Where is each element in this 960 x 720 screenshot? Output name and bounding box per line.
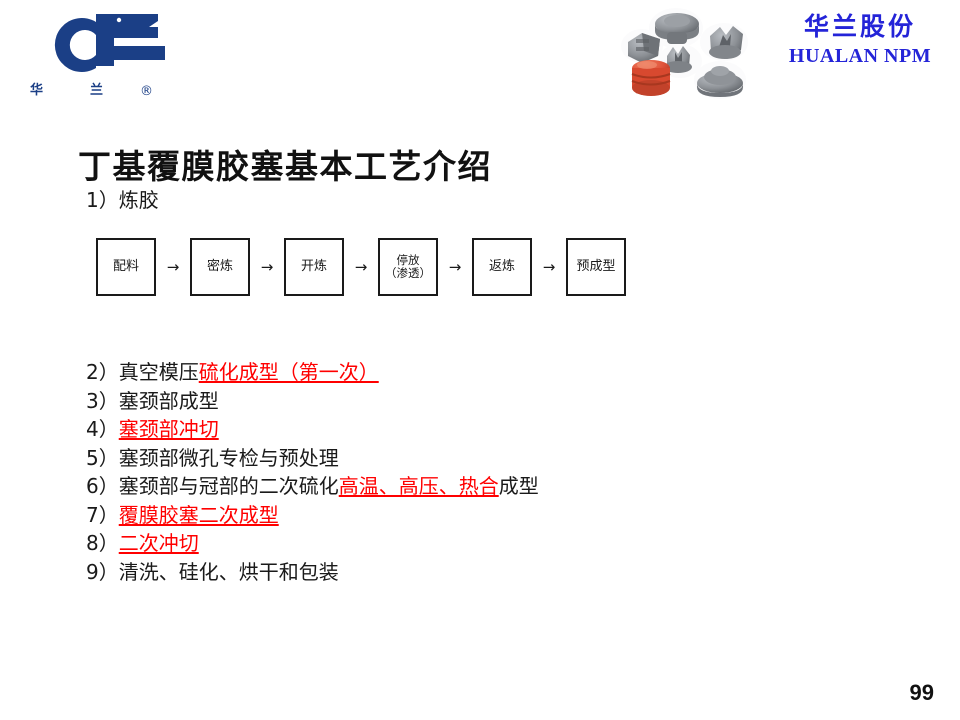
- step-plain-text: 7）: [86, 503, 119, 527]
- step-plain-text: 5）塞颈部微孔专检与预处理: [86, 446, 339, 470]
- registered-trademark-icon: ®: [140, 84, 153, 99]
- flow-node-label: 停放 （渗透）: [385, 254, 431, 280]
- process-flow-diagram: 配料→密炼→开炼→停放 （渗透）→返炼→预成型: [96, 238, 626, 296]
- flow-arrow-5: →: [532, 260, 566, 275]
- brand-name-en: HUALAN NPM: [772, 44, 948, 69]
- flow-arrow-4: →: [438, 260, 472, 275]
- step-plain-text: 9）清洗、硅化、烘干和包装: [86, 560, 339, 584]
- hualan-cl-monogram-icon: [18, 8, 188, 80]
- stopper-red-stack: [632, 60, 670, 96]
- process-steps-list: 2）真空模压硫化成型（第一次） 3）塞颈部成型4）塞颈部冲切5）塞颈部微孔专检与…: [86, 358, 786, 586]
- flow-node-label: 密炼: [207, 260, 233, 275]
- step-highlight-text[interactable]: 高温、高压、热合: [339, 474, 499, 498]
- process-step-4: 4）塞颈部冲切: [86, 415, 786, 444]
- step-1-label: 1）炼胶: [86, 184, 159, 213]
- step-plain-text: 8）: [86, 531, 119, 555]
- flow-node-3[interactable]: 开炼: [284, 238, 344, 296]
- step-plain-text: 3）塞颈部成型: [86, 389, 219, 413]
- step-highlight-text[interactable]: 硫化成型（第一次）: [199, 360, 379, 384]
- flow-node-6[interactable]: 预成型: [566, 238, 626, 296]
- flow-node-4[interactable]: 停放 （渗透）: [378, 238, 438, 296]
- flow-node-1[interactable]: 配料: [96, 238, 156, 296]
- process-step-9: 9）清洗、硅化、烘干和包装: [86, 558, 786, 587]
- slide-canvas: 华 兰 ®: [0, 0, 960, 720]
- process-step-5: 5）塞颈部微孔专检与预处理: [86, 444, 786, 473]
- step-plain-text: 6）塞颈部与冠部的二次硫化: [86, 474, 339, 498]
- page-title: 丁基覆膜胶塞基本工艺介绍: [78, 140, 492, 188]
- step-highlight-text[interactable]: 二次冲切: [119, 531, 199, 555]
- flow-node-label: 配料: [113, 260, 139, 275]
- step-plain-text: 2）真空模压: [86, 360, 199, 384]
- flow-node-label: 返炼: [489, 260, 515, 275]
- flow-arrow-2: →: [250, 260, 284, 275]
- flow-arrow-1: →: [156, 260, 190, 275]
- logo-char-hua: 华: [30, 79, 44, 98]
- process-step-3: 3）塞颈部成型: [86, 387, 786, 416]
- brand-block: 华兰股份 HUALAN NPM: [620, 4, 950, 104]
- step-highlight-text[interactable]: 覆膜胶塞二次成型: [119, 503, 279, 527]
- step-plain-text: 成型: [499, 474, 539, 498]
- process-step-2: 2）真空模压硫化成型（第一次）: [86, 358, 786, 387]
- process-step-6: 6）塞颈部与冠部的二次硫化高温、高压、热合成型: [86, 472, 786, 501]
- page-number: 99: [910, 680, 934, 706]
- brand-name-cn: 华兰股份: [772, 12, 948, 42]
- flow-node-2[interactable]: 密炼: [190, 238, 250, 296]
- step-highlight-text[interactable]: 塞颈部冲切: [119, 417, 219, 441]
- brand-text: 华兰股份 HUALAN NPM: [772, 12, 948, 69]
- company-logo: 华 兰 ®: [18, 8, 188, 100]
- flow-node-5[interactable]: 返炼: [472, 238, 532, 296]
- flow-node-label: 开炼: [301, 260, 327, 275]
- step-plain-text: 4）: [86, 417, 119, 441]
- flow-node-label: 预成型: [576, 260, 615, 275]
- logo-char-lan: 兰: [90, 79, 104, 98]
- rubber-stopper-product-photo: [620, 6, 770, 102]
- process-step-8: 8）二次冲切: [86, 529, 786, 558]
- process-step-7: 7）覆膜胶塞二次成型: [86, 501, 786, 530]
- flow-arrow-3: →: [344, 260, 378, 275]
